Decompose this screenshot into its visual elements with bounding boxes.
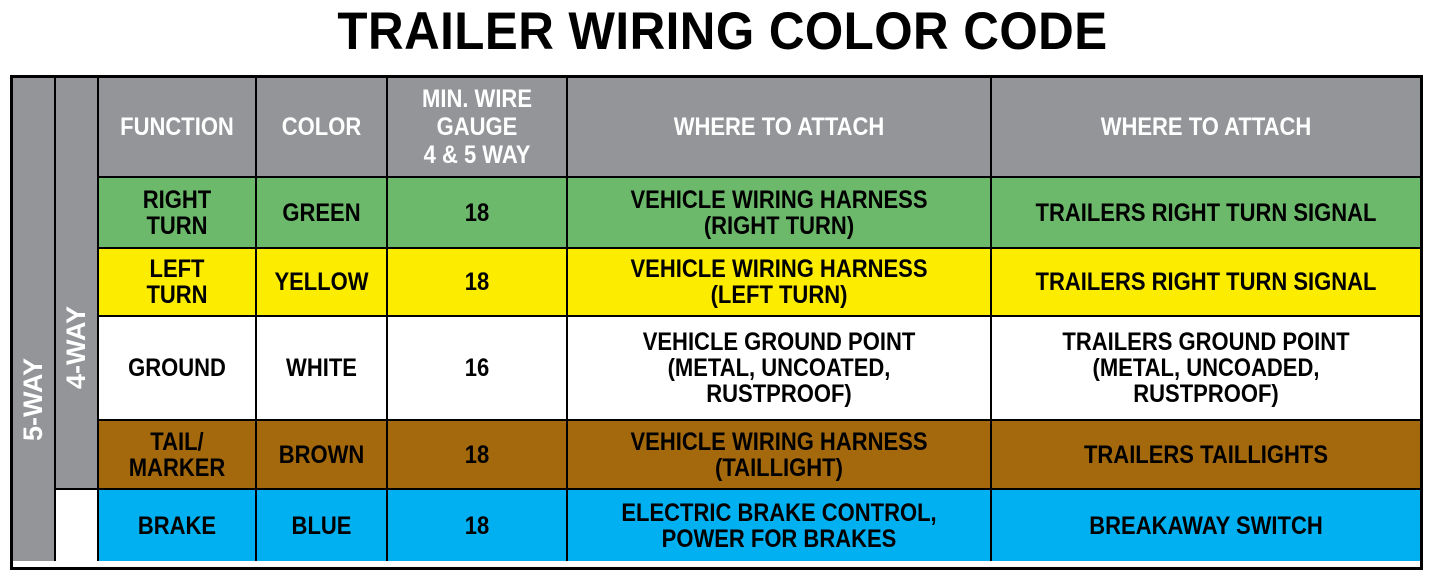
table-grid: 5-WAY 4-WAY FUNCTION COLOR MIN. WIRE GAU… bbox=[13, 78, 1420, 567]
table-row: BRAKE bbox=[99, 490, 257, 561]
table-row: BREAKAWAY SWITCH bbox=[992, 490, 1420, 561]
table-row: WHITE bbox=[257, 317, 388, 421]
table-row: BLUE bbox=[257, 490, 388, 561]
cell-gauge: 18 bbox=[399, 442, 556, 468]
table-row: LEFT TURN bbox=[99, 249, 257, 317]
cell-color: BROWN bbox=[265, 442, 379, 468]
table-row: ELECTRIC BRAKE CONTROL, POWER FOR BRAKES bbox=[568, 490, 992, 561]
table-row: VEHICLE WIRING HARNESS (LEFT TURN) bbox=[568, 249, 992, 317]
cell-attach-trailer: TRAILERS TAILLIGHTS bbox=[1018, 442, 1395, 468]
table-row: 18 bbox=[388, 249, 568, 317]
trailer-wiring-color-code-page: TRAILER WIRING COLOR CODE 5-WAY 4-WAY FU… bbox=[0, 0, 1445, 578]
table-row: TRAILERS TAILLIGHTS bbox=[992, 421, 1420, 490]
column-header-where-to-attach-vehicle-label: WHERE TO ATTACH bbox=[593, 113, 964, 141]
cell-function: BRAKE bbox=[108, 513, 245, 539]
table-row: TRAILERS RIGHT TURN SIGNAL bbox=[992, 178, 1420, 249]
cell-color: YELLOW bbox=[265, 269, 379, 295]
wiring-color-code-table: 5-WAY 4-WAY FUNCTION COLOR MIN. WIRE GAU… bbox=[10, 75, 1423, 570]
cell-attach-trailer: TRAILERS RIGHT TURN SIGNAL bbox=[1018, 269, 1395, 295]
table-row: 18 bbox=[388, 421, 568, 490]
cell-gauge: 18 bbox=[399, 200, 556, 226]
table-row: TRAILERS RIGHT TURN SIGNAL bbox=[992, 249, 1420, 317]
cell-gauge: 18 bbox=[399, 513, 556, 539]
column-header-where-to-attach-vehicle: WHERE TO ATTACH bbox=[568, 78, 992, 178]
table-row: TRAILERS GROUND POINT (METAL, UNCOADED, … bbox=[992, 317, 1420, 421]
table-row: 18 bbox=[388, 490, 568, 561]
column-header-where-to-attach-trailer: WHERE TO ATTACH bbox=[992, 78, 1420, 178]
table-row: YELLOW bbox=[257, 249, 388, 317]
cell-function: RIGHT TURN bbox=[108, 187, 245, 239]
side-label-5-way-text: 5-WAY bbox=[20, 358, 47, 441]
table-row: 16 bbox=[388, 317, 568, 421]
cell-attach-vehicle: VEHICLE GROUND POINT (METAL, UNCOATED, R… bbox=[593, 329, 964, 407]
cell-color: GREEN bbox=[265, 200, 379, 226]
column-header-where-to-attach-trailer-label: WHERE TO ATTACH bbox=[1018, 113, 1395, 141]
cell-color: WHITE bbox=[265, 355, 379, 381]
page-title: TRAILER WIRING COLOR CODE bbox=[51, 2, 1395, 62]
cell-attach-vehicle: VEHICLE WIRING HARNESS (LEFT TURN) bbox=[593, 256, 964, 308]
side-label-4-way-text: 4-WAY bbox=[63, 306, 90, 389]
cell-gauge: 18 bbox=[399, 269, 556, 295]
cell-function: TAIL/ MARKER bbox=[108, 429, 245, 481]
column-header-min-wire-gauge-label: MIN. WIRE GAUGE 4 & 5 WAY bbox=[399, 85, 556, 169]
table-row: 18 bbox=[388, 178, 568, 249]
cell-function: GROUND bbox=[108, 355, 245, 381]
side-label-4-way: 4-WAY bbox=[56, 78, 99, 490]
table-row: VEHICLE WIRING HARNESS (RIGHT TURN) bbox=[568, 178, 992, 249]
column-header-color-label: COLOR bbox=[265, 113, 379, 141]
cell-attach-trailer: BREAKAWAY SWITCH bbox=[1018, 513, 1395, 539]
column-header-min-wire-gauge: MIN. WIRE GAUGE 4 & 5 WAY bbox=[388, 78, 568, 178]
cell-gauge: 16 bbox=[399, 355, 556, 381]
table-row: VEHICLE WIRING HARNESS (TAILLIGHT) bbox=[568, 421, 992, 490]
table-row: BROWN bbox=[257, 421, 388, 490]
cell-attach-vehicle: ELECTRIC BRAKE CONTROL, POWER FOR BRAKES bbox=[593, 500, 964, 552]
side-label-5-way: 5-WAY bbox=[13, 78, 56, 561]
cell-attach-trailer: TRAILERS GROUND POINT (METAL, UNCOADED, … bbox=[1018, 329, 1395, 407]
table-row: VEHICLE GROUND POINT (METAL, UNCOATED, R… bbox=[568, 317, 992, 421]
cell-color: BLUE bbox=[265, 513, 379, 539]
cell-function: LEFT TURN bbox=[108, 256, 245, 308]
column-header-function: FUNCTION bbox=[99, 78, 257, 178]
column-header-color: COLOR bbox=[257, 78, 388, 178]
table-row: GROUND bbox=[99, 317, 257, 421]
table-row: TAIL/ MARKER bbox=[99, 421, 257, 490]
table-row: RIGHT TURN bbox=[99, 178, 257, 249]
table-row: GREEN bbox=[257, 178, 388, 249]
cell-attach-vehicle: VEHICLE WIRING HARNESS (RIGHT TURN) bbox=[593, 187, 964, 239]
cell-attach-vehicle: VEHICLE WIRING HARNESS (TAILLIGHT) bbox=[593, 429, 964, 481]
side-label-4-way-blank-cell bbox=[56, 490, 99, 561]
column-header-function-label: FUNCTION bbox=[108, 113, 245, 141]
cell-attach-trailer: TRAILERS RIGHT TURN SIGNAL bbox=[1018, 200, 1395, 226]
